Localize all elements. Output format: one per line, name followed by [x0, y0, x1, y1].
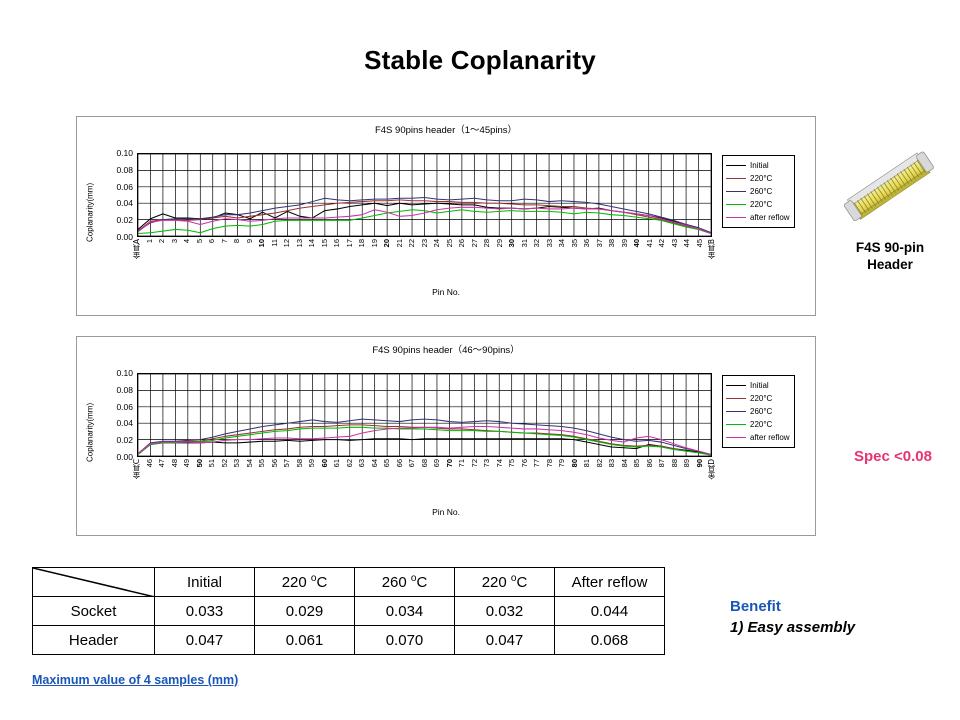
x-tick-label: 73 [483, 459, 491, 467]
y-tick-label: 0.04 [116, 419, 133, 428]
x-tick-label: 3 [171, 239, 179, 243]
legend-entry: Initial [726, 159, 790, 172]
legend-entry: 220°C [726, 198, 790, 211]
legend-entry-label: 220°C [750, 394, 772, 403]
x-tick-label: 18 [358, 239, 366, 247]
x-tick-label: 36 [583, 239, 591, 247]
x-tick-label: 28 [483, 239, 491, 247]
x-tick-label: 29 [496, 239, 504, 247]
table-cell-value: 0.047 [455, 626, 555, 655]
legend-entry-label: 260°C [750, 187, 772, 196]
table-cell-value: 0.032 [455, 597, 555, 626]
x-tick-label: 金具D [708, 459, 716, 480]
legend-entry-label: 260°C [750, 407, 772, 416]
table-body: Socket0.0330.0290.0340.0320.044Header0.0… [33, 597, 665, 655]
benefit-item-1: 1) Easy assembly [730, 619, 855, 636]
table-column-header: 220 oC [255, 568, 355, 597]
x-tick-label: 22 [408, 239, 416, 247]
y-tick-label: 0.10 [116, 369, 133, 378]
table-column-header: Initial [155, 568, 255, 597]
x-tick-label: 13 [296, 239, 304, 247]
x-tick-label: 27 [471, 239, 479, 247]
x-tick-label: 89 [683, 459, 691, 467]
x-tick-label: 65 [383, 459, 391, 467]
x-tick-label: 82 [596, 459, 604, 467]
benefit-title: Benefit [730, 598, 781, 615]
chart-1-y-axis-label: Coplanarity(mm) [83, 167, 97, 257]
footnote: Maximum value of 4 samples (mm) [32, 673, 238, 687]
x-tick-label: 87 [658, 459, 666, 467]
table-cell-value: 0.044 [555, 597, 665, 626]
x-tick-label: 7 [221, 239, 229, 243]
chart-panel-2: F4S 90pins header（46～90pins） Coplanarity… [76, 336, 816, 536]
x-tick-label: 71 [458, 459, 466, 467]
table-cell-value: 0.033 [155, 597, 255, 626]
table-cell-value: 0.029 [255, 597, 355, 626]
x-tick-label: 2 [158, 239, 166, 243]
chart-1-plot-area [137, 153, 712, 237]
table-cell-value: 0.034 [355, 597, 455, 626]
x-tick-label: 85 [633, 459, 641, 467]
x-tick-label: 76 [521, 459, 529, 467]
y-tick-label: 0.00 [116, 453, 133, 462]
x-tick-label: 5 [196, 239, 204, 243]
x-tick-label: 61 [333, 459, 341, 467]
legend-entry: 260°C [726, 185, 790, 198]
table-column-header: 260 oC [355, 568, 455, 597]
x-tick-label: 11 [271, 239, 279, 247]
x-tick-label: 43 [671, 239, 679, 247]
legend-entry: 220°C [726, 418, 790, 431]
legend-color-swatch [726, 191, 746, 192]
x-tick-label: 54 [246, 459, 254, 467]
legend-entry: after reflow [726, 431, 790, 444]
x-tick-label: 39 [621, 239, 629, 247]
x-tick-label: 31 [521, 239, 529, 247]
summary-table: Initial220 oC260 oC220 oCAfter reflow So… [32, 567, 665, 655]
x-tick-label: 30 [508, 239, 516, 247]
x-tick-label: 57 [283, 459, 291, 467]
chart-2-x-ticks: 金具C4647484950515253545556575859606162636… [137, 459, 712, 503]
legend-entry: 220°C [726, 172, 790, 185]
x-tick-label: 46 [146, 459, 154, 467]
table-cell-value: 0.047 [155, 626, 255, 655]
x-tick-label: 83 [608, 459, 616, 467]
legend-color-swatch [726, 178, 746, 179]
x-tick-label: 53 [233, 459, 241, 467]
legend-entry-label: 220°C [750, 200, 772, 209]
spec-label: Spec <0.08 [818, 448, 960, 465]
x-tick-label: 80 [571, 459, 579, 467]
table-header-row: Initial220 oC260 oC220 oCAfter reflow [33, 568, 665, 597]
x-tick-label: 4 [183, 239, 191, 243]
x-tick-label: 17 [346, 239, 354, 247]
chart-2-title: F4S 90pins header（46～90pins） [77, 342, 815, 356]
y-tick-label: 0.04 [116, 199, 133, 208]
connector-caption-line1: F4S 90-pin [856, 240, 924, 255]
x-tick-label: 24 [433, 239, 441, 247]
x-tick-label: 47 [158, 459, 166, 467]
x-tick-label: 67 [408, 459, 416, 467]
table-column-header: After reflow [555, 568, 665, 597]
x-tick-label: 45 [696, 239, 704, 247]
connector-header-image [836, 148, 944, 228]
x-tick-label: 49 [183, 459, 191, 467]
legend-entry-label: after reflow [750, 213, 790, 222]
x-tick-label: 64 [371, 459, 379, 467]
chart-2-legend: Initial220°C260°C220°Cafter reflow [722, 375, 795, 448]
x-tick-label: 25 [446, 239, 454, 247]
chart-2-y-ticks: 0.000.020.040.060.080.10 [99, 373, 133, 457]
x-tick-label: 40 [633, 239, 641, 247]
x-tick-label: 6 [208, 239, 216, 243]
chart-1-y-ticks: 0.000.020.040.060.080.10 [99, 153, 133, 237]
x-tick-label: 70 [446, 459, 454, 467]
chart-1-x-axis-label: Pin No. [77, 287, 815, 297]
x-tick-label: 21 [396, 239, 404, 247]
x-tick-label: 35 [571, 239, 579, 247]
legend-color-swatch [726, 204, 746, 205]
legend-color-swatch [726, 424, 746, 425]
chart-2-plot-area [137, 373, 712, 457]
legend-entry-label: 220°C [750, 420, 772, 429]
x-tick-label: 金具C [133, 459, 141, 479]
legend-entry: after reflow [726, 211, 790, 224]
x-tick-label: 42 [658, 239, 666, 247]
chart-1-x-ticks: 金具A1234567891011121314151617181920212223… [137, 239, 712, 283]
x-tick-label: 78 [546, 459, 554, 467]
chart-panel-1: F4S 90pins header（1～45pins） Coplanarity(… [76, 116, 816, 316]
x-tick-label: 69 [433, 459, 441, 467]
x-tick-label: 74 [496, 459, 504, 467]
y-tick-label: 0.02 [116, 216, 133, 225]
legend-color-swatch [726, 398, 746, 399]
table-column-header: 220 oC [455, 568, 555, 597]
x-tick-label: 58 [296, 459, 304, 467]
x-tick-label: 1 [146, 239, 154, 243]
slide-root: Stable Coplanarity F4S 90pins header（1～4… [0, 0, 960, 720]
x-tick-label: 81 [583, 459, 591, 467]
x-tick-label: 75 [508, 459, 516, 467]
table-cell-value: 0.070 [355, 626, 455, 655]
chart-2-y-axis-label: Coplanarity(mm) [83, 387, 97, 477]
y-tick-label: 0.00 [116, 233, 133, 242]
x-tick-label: 33 [546, 239, 554, 247]
legend-color-swatch [726, 385, 746, 386]
x-tick-label: 66 [396, 459, 404, 467]
x-tick-label: 60 [321, 459, 329, 467]
x-tick-label: 77 [533, 459, 541, 467]
legend-entry-label: Initial [750, 161, 769, 170]
x-tick-label: 79 [558, 459, 566, 467]
x-tick-label: 38 [608, 239, 616, 247]
x-tick-label: 59 [308, 459, 316, 467]
x-tick-label: 48 [171, 459, 179, 467]
table-row-label: Socket [33, 597, 155, 626]
x-tick-label: 14 [308, 239, 316, 247]
x-tick-label: 68 [421, 459, 429, 467]
x-tick-label: 金具B [708, 239, 716, 259]
x-tick-label: 41 [646, 239, 654, 247]
x-tick-label: 90 [696, 459, 704, 467]
x-tick-label: 56 [271, 459, 279, 467]
table-row: Socket0.0330.0290.0340.0320.044 [33, 597, 665, 626]
x-tick-label: 12 [283, 239, 291, 247]
legend-entry-label: Initial [750, 381, 769, 390]
x-tick-label: 51 [208, 459, 216, 467]
x-tick-label: 9 [246, 239, 254, 243]
x-tick-label: 44 [683, 239, 691, 247]
connector-caption: F4S 90-pin Header [818, 240, 960, 274]
x-tick-label: 32 [533, 239, 541, 247]
table-row-label: Header [33, 626, 155, 655]
page-title: Stable Coplanarity [0, 45, 960, 76]
legend-color-swatch [726, 165, 746, 166]
chart-1-legend: Initial220°C260°C220°Cafter reflow [722, 155, 795, 228]
legend-entry-label: 220°C [750, 174, 772, 183]
x-tick-label: 37 [596, 239, 604, 247]
legend-entry: 220°C [726, 392, 790, 405]
legend-color-swatch [726, 217, 746, 218]
connector-caption-line2: Header [867, 257, 913, 272]
legend-color-swatch [726, 437, 746, 438]
x-tick-label: 34 [558, 239, 566, 247]
x-tick-label: 72 [471, 459, 479, 467]
table-cell-value: 0.068 [555, 626, 665, 655]
legend-entry: Initial [726, 379, 790, 392]
y-tick-label: 0.10 [116, 149, 133, 158]
x-tick-label: 15 [321, 239, 329, 247]
x-tick-label: 23 [421, 239, 429, 247]
y-tick-label: 0.08 [116, 386, 133, 395]
x-tick-label: 86 [646, 459, 654, 467]
legend-entry-label: after reflow [750, 433, 790, 442]
legend-entry: 260°C [726, 405, 790, 418]
x-tick-label: 26 [458, 239, 466, 247]
y-tick-label: 0.08 [116, 166, 133, 175]
x-tick-label: 8 [233, 239, 241, 243]
x-tick-label: 50 [196, 459, 204, 467]
x-tick-label: 55 [258, 459, 266, 467]
chart-1-title: F4S 90pins header（1～45pins） [77, 122, 815, 136]
y-tick-label: 0.02 [116, 436, 133, 445]
table-cell-value: 0.061 [255, 626, 355, 655]
x-tick-label: 10 [258, 239, 266, 247]
x-tick-label: 19 [371, 239, 379, 247]
x-tick-label: 62 [346, 459, 354, 467]
y-tick-label: 0.06 [116, 402, 133, 411]
table-row: Header0.0470.0610.0700.0470.068 [33, 626, 665, 655]
x-tick-label: 52 [221, 459, 229, 467]
y-tick-label: 0.06 [116, 182, 133, 191]
x-tick-label: 88 [671, 459, 679, 467]
x-tick-label: 84 [621, 459, 629, 467]
table-corner-cell [33, 568, 155, 597]
x-tick-label: 16 [333, 239, 341, 247]
x-tick-label: 金具A [133, 239, 141, 259]
legend-color-swatch [726, 411, 746, 412]
x-tick-label: 20 [383, 239, 391, 247]
x-tick-label: 63 [358, 459, 366, 467]
chart-2-x-axis-label: Pin No. [77, 507, 815, 517]
